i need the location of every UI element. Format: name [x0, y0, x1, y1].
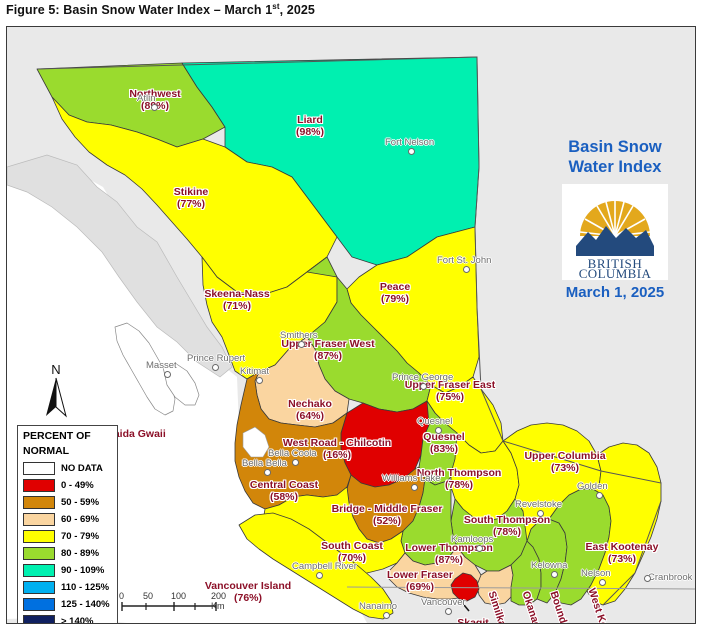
basin-label-name: Nechako	[288, 399, 332, 411]
city-marker-dot	[383, 612, 390, 619]
legend[interactable]: PERCENT OF NORMAL NO DATA0 - 49%50 - 59%…	[17, 425, 118, 624]
legend-title-line2: NORMAL	[23, 445, 113, 457]
scale-bar: 0 50 100 200 Km	[119, 591, 239, 621]
scale-tick-200: 200 Km	[211, 591, 239, 611]
basin-label-name: East Kootenay	[586, 542, 659, 554]
city-label: Prince Rupert	[187, 353, 245, 364]
city-label: Quesnel	[417, 416, 452, 427]
city-marker-dot	[298, 341, 305, 348]
city-marker-dot	[596, 492, 603, 499]
legend-label: 80 - 89%	[61, 548, 99, 559]
legend-swatch	[23, 513, 55, 526]
basin-label-name: Peace	[380, 282, 410, 294]
legend-row[interactable]: 60 - 69%	[23, 511, 113, 527]
basin-label-value: (71%)	[204, 301, 269, 313]
legend-swatch	[23, 547, 55, 560]
city-marker-dot	[445, 608, 452, 615]
basin-label[interactable]: Upper Columbia(73%)	[524, 451, 605, 474]
basin-label[interactable]: Quesnel(83%)	[423, 432, 464, 455]
basin-label-value: (87%)	[281, 351, 374, 363]
scale-tick-0: 0	[119, 591, 124, 601]
basin-label[interactable]: Stikine(77%)	[174, 187, 208, 210]
city-marker-dot	[644, 575, 651, 582]
brand-date: March 1, 2025	[535, 284, 695, 301]
basin-label[interactable]: Peace(79%)	[380, 282, 410, 305]
city-marker-dot	[212, 364, 219, 371]
city-label: Masset	[146, 360, 177, 371]
city-marker-dot	[408, 148, 415, 155]
city-marker-dot	[551, 571, 558, 578]
basin-label-value: (64%)	[288, 411, 332, 423]
legend-label: 90 - 109%	[61, 565, 104, 576]
city-marker-dot	[476, 545, 483, 552]
basin-label-value: (87%)	[405, 555, 493, 567]
british-columbia-logo: BRITISH COLUMBIA	[562, 184, 668, 280]
city-label: Kitimat	[240, 366, 269, 377]
legend-label: 60 - 69%	[61, 514, 99, 525]
north-arrow: N	[43, 363, 69, 423]
basin-label[interactable]: Lower Fraser(69%)	[387, 570, 453, 593]
city-label: Fort Nelson	[385, 137, 434, 148]
legend-label: > 140%	[61, 616, 94, 625]
legend-row[interactable]: 125 - 140%	[23, 596, 113, 612]
city-label: Nanaimo	[359, 601, 397, 612]
city-label: Kamloops	[451, 534, 493, 545]
legend-swatch	[23, 530, 55, 543]
basin-label[interactable]: Skagit(27%)	[457, 618, 489, 624]
city-label: Nelson	[581, 568, 611, 579]
city-marker-dot	[256, 377, 263, 384]
city-label: Golden	[577, 481, 608, 492]
city-label: Williams Lake	[382, 473, 441, 484]
basin-label[interactable]: East Kootenay(73%)	[586, 542, 659, 565]
basin-label-name: South Thompson	[464, 515, 550, 527]
basin-label-value: (58%)	[250, 492, 318, 504]
city-label: Atlin	[137, 93, 155, 104]
city-label: Prince George	[392, 372, 453, 383]
basin-label-value: (98%)	[296, 127, 324, 139]
north-arrow-icon	[43, 376, 69, 418]
legend-swatch	[23, 479, 55, 492]
scale-tick-50: 50	[143, 591, 153, 601]
basin-label-value: (73%)	[586, 554, 659, 566]
city-label: Revelstoke	[515, 499, 562, 510]
basin-label-name: Skeena-Nass	[204, 289, 269, 301]
basin-label[interactable]: Nechako(64%)	[288, 399, 332, 422]
brand-title-line2: Water Index	[535, 157, 695, 177]
city-marker-dot	[292, 459, 299, 466]
city-label: Kelowna	[531, 560, 567, 571]
legend-label: 110 - 125%	[61, 582, 109, 593]
city-label: Cranbrook	[648, 572, 692, 583]
city-marker-dot	[420, 383, 427, 390]
city-label: Campbell River	[292, 561, 357, 572]
north-arrow-label: N	[43, 363, 69, 376]
basin-label-value: (73%)	[524, 463, 605, 475]
city-label: Vancouver	[421, 597, 466, 608]
brand-title-line1: Basin Snow	[535, 137, 695, 157]
legend-swatch	[23, 615, 55, 625]
basin-label[interactable]: Central Coast(58%)	[250, 480, 318, 503]
legend-row[interactable]: 70 - 79%	[23, 528, 113, 544]
scale-bar-tick-labels: 0 50 100 200 Km	[119, 591, 239, 602]
city-marker-dot	[316, 572, 323, 579]
city-label: Smithers	[280, 330, 317, 341]
basin-label[interactable]: Bridge - Middle Fraser(52%)	[332, 504, 443, 527]
legend-title-line1: PERCENT OF	[23, 430, 113, 442]
city-marker-dot	[264, 469, 271, 476]
basin-label-name: Lower Fraser	[387, 570, 453, 582]
basin-label-name: Skagit	[457, 618, 489, 624]
figure-title-suffix: , 2025	[280, 3, 315, 17]
basin-label-value: (83%)	[423, 444, 464, 456]
basin-label[interactable]: Skeena-Nass(71%)	[204, 289, 269, 312]
figure-title: Figure 5: Basin Snow Water Index – March…	[6, 2, 315, 17]
scale-tick-100: 100	[171, 591, 186, 601]
legend-label: 125 - 140%	[61, 599, 110, 610]
city-marker-dot	[411, 484, 418, 491]
basin-label-name: Quesnel	[423, 432, 464, 444]
basin-label-name: South Coast	[321, 541, 383, 553]
legend-label: 0 - 49%	[61, 480, 94, 491]
city-marker-dot	[463, 266, 470, 273]
city-marker-dot	[164, 371, 171, 378]
city-marker-dot	[537, 510, 544, 517]
legend-swatch	[23, 581, 55, 594]
branding-block: Basin Snow Water Index BRITISH	[535, 137, 695, 301]
legend-label: 70 - 79%	[61, 531, 99, 542]
basin-label-value: (52%)	[332, 516, 443, 528]
legend-swatch	[23, 462, 55, 475]
figure-title-ordinal: st	[272, 2, 279, 11]
basin-label[interactable]: Liard(98%)	[296, 115, 324, 138]
basin-label-name: Upper Columbia	[524, 451, 605, 463]
city-marker-dot	[151, 104, 158, 111]
city-label: Fort St. John	[437, 255, 491, 266]
legend-swatch	[23, 564, 55, 577]
legend-row[interactable]: 90 - 109%	[23, 562, 113, 578]
legend-label: 50 - 59%	[61, 497, 99, 508]
basin-label-name: Bridge - Middle Fraser	[332, 504, 443, 516]
legend-row[interactable]: > 140%	[23, 613, 113, 624]
legend-row[interactable]: 80 - 89%	[23, 545, 113, 561]
legend-row[interactable]: 0 - 49%	[23, 477, 113, 493]
basin-label-value: (69%)	[387, 582, 453, 594]
legend-label: NO DATA	[61, 463, 103, 474]
city-marker-dot	[435, 427, 442, 434]
legend-swatch	[23, 598, 55, 611]
legend-rows: NO DATA0 - 49%50 - 59%60 - 69%70 - 79%80…	[23, 460, 113, 624]
city-label: Bella Bella	[242, 458, 287, 469]
basin-label-name: Liard	[296, 115, 324, 127]
map-frame[interactable]: Northwest(89%)Liard(98%)Stikine(77%)Skee…	[6, 26, 696, 624]
logo-text-columbia: COLUMBIA	[579, 266, 652, 280]
legend-row[interactable]: 50 - 59%	[23, 494, 113, 510]
basin-label-value: (77%)	[174, 199, 208, 211]
basin-label[interactable]: Upper Fraser West(87%)	[281, 339, 374, 362]
figure-title-prefix: Figure 5: Basin Snow Water Index – March…	[6, 3, 272, 17]
legend-row[interactable]: 110 - 125%	[23, 579, 113, 595]
basin-label-value: (79%)	[380, 294, 410, 306]
legend-swatch	[23, 496, 55, 509]
basin-label-name: Stikine	[174, 187, 208, 199]
basin-label-value: (75%)	[405, 392, 495, 404]
basin-label-name: Central Coast	[250, 480, 318, 492]
city-marker-dot	[599, 579, 606, 586]
legend-row[interactable]: NO DATA	[23, 460, 113, 476]
basin-label[interactable]: Upper Fraser East(75%)	[405, 380, 495, 403]
